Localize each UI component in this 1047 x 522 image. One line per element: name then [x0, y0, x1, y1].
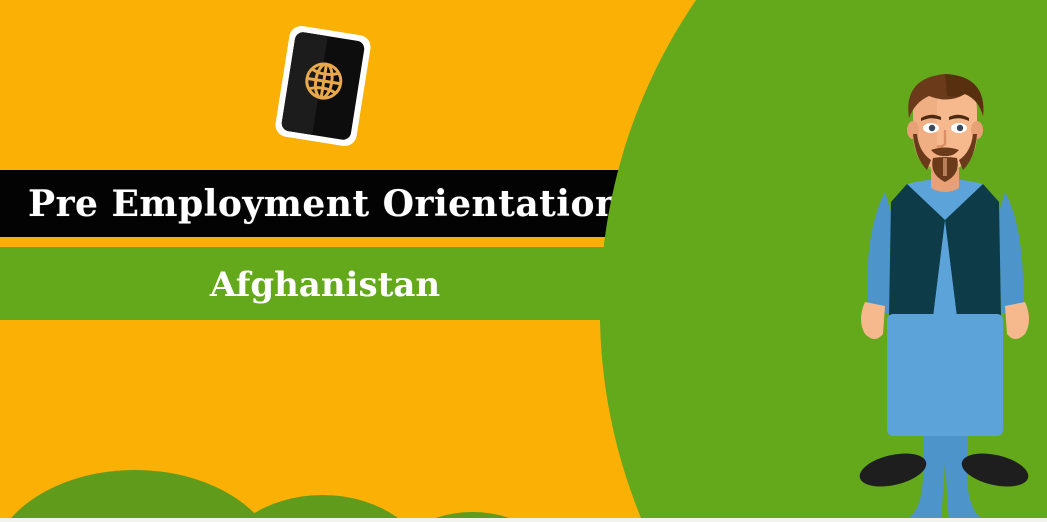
shoe-right	[958, 448, 1031, 493]
hand-right	[1005, 302, 1029, 339]
sleeve-left	[867, 192, 891, 314]
hand-left	[861, 302, 885, 339]
shoe-left	[856, 448, 929, 493]
country-label: Afghanistan	[0, 262, 650, 308]
person-illustration-icon	[845, 62, 1045, 522]
bottom-edge-strip	[0, 518, 1047, 522]
person-svg	[845, 62, 1045, 522]
banner-bottom-accent	[0, 237, 700, 247]
poster-canvas: Pre Employment Orientation Seminar Afgha…	[0, 0, 1047, 522]
tunic	[887, 314, 1003, 436]
pupil-right	[957, 125, 963, 131]
sleeve-right	[999, 192, 1023, 314]
passport-icon	[274, 24, 373, 147]
pupil-left	[929, 125, 935, 131]
globe-icon	[296, 54, 351, 109]
chin-gap	[943, 158, 947, 176]
